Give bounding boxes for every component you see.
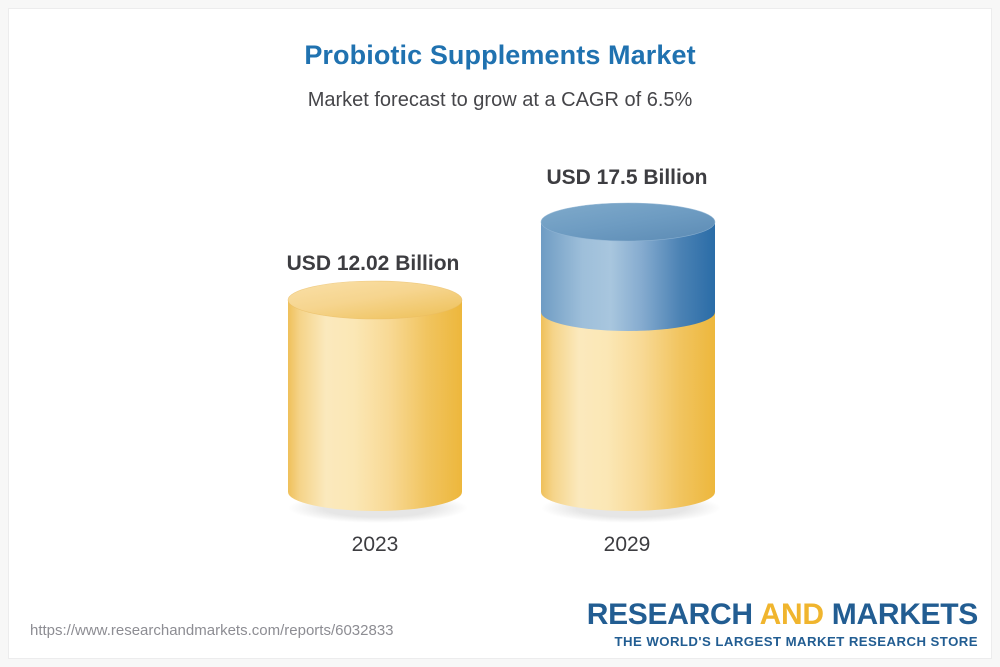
data-label-2023: USD 12.02 Billion bbox=[273, 252, 473, 276]
logo-word-markets: MARKETS bbox=[824, 598, 978, 631]
logo-word-and: AND bbox=[760, 598, 824, 631]
bar-cylinder-2023[interactable] bbox=[280, 280, 470, 525]
bar-cylinder-2029[interactable] bbox=[533, 195, 723, 525]
research-and-markets-logo[interactable]: RESEARCH AND MARKETS THE WORLD'S LARGEST… bbox=[587, 600, 978, 648]
logo-tagline: THE WORLD'S LARGEST MARKET RESEARCH STOR… bbox=[587, 635, 978, 648]
cylinder-bar-chart: USD 12.02 Billion USD 17.5 Billion bbox=[0, 0, 1000, 667]
logo-word-research: RESEARCH bbox=[587, 598, 760, 631]
chart-canvas: Probiotic Supplements Market Market fore… bbox=[0, 0, 1000, 667]
data-label-2029: USD 17.5 Billion bbox=[527, 166, 727, 190]
category-label-2029: 2029 bbox=[527, 533, 727, 557]
category-label-2023: 2023 bbox=[275, 533, 475, 557]
logo-wordmark: RESEARCH AND MARKETS bbox=[587, 600, 978, 630]
source-url[interactable]: https://www.researchandmarkets.com/repor… bbox=[30, 622, 394, 639]
